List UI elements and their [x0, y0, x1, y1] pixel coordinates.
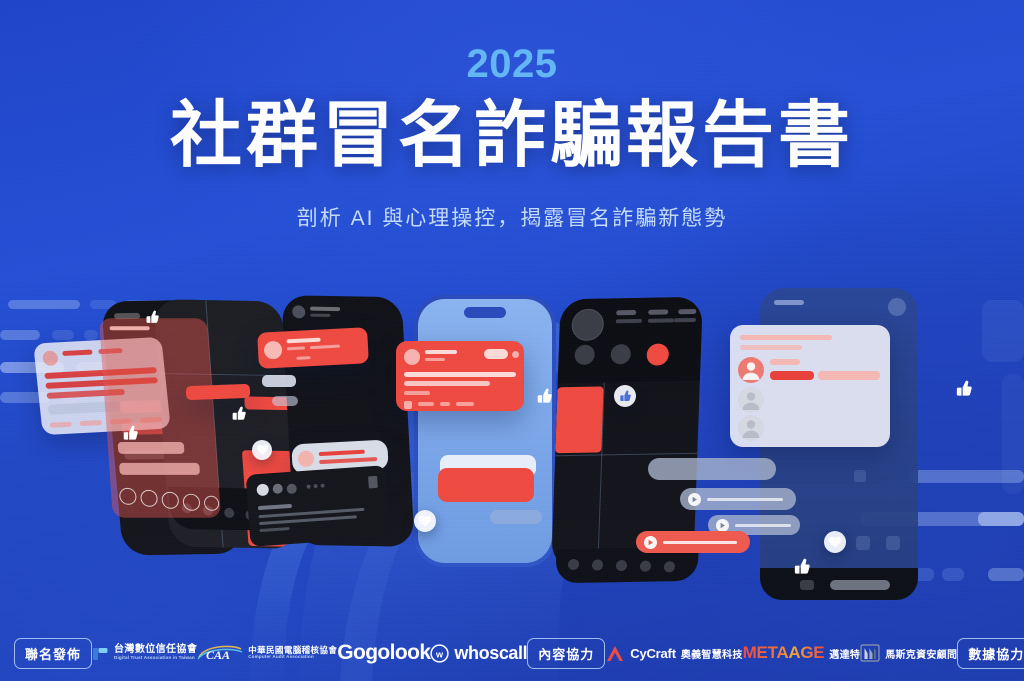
thumbs-up-icon	[145, 310, 159, 329]
phone-chip	[306, 484, 310, 488]
text-line	[62, 350, 93, 357]
whoscall-mark-icon: w	[430, 644, 449, 663]
logo-text-stack: 台灣數位信任協會 Digital Trust Association in Ta…	[114, 645, 197, 660]
avatar	[292, 305, 306, 318]
reaction-icon	[119, 488, 137, 505]
logo-caa: CAA 中華民國電腦稽核協會 Computer Audit Associatio…	[197, 643, 337, 663]
waveform	[663, 541, 737, 544]
phone-chip	[678, 309, 696, 314]
text-line	[287, 346, 305, 350]
partner-logo-footer: 聯名發佈 台灣數位信任協會 Digital Trust Association …	[0, 625, 1024, 681]
scam-post-overlay	[99, 318, 221, 518]
reaction-icon	[161, 492, 179, 509]
logo-mastech: 馬斯克資安顧問	[860, 643, 957, 663]
phone-mockup-5	[551, 297, 703, 569]
more-icon[interactable]	[512, 351, 519, 358]
caller-avatar	[571, 309, 604, 342]
phone-chip	[616, 310, 636, 315]
phone-mockup-4	[414, 295, 556, 567]
text-line	[310, 345, 340, 350]
thumbs-up-icon	[122, 425, 138, 446]
text-line	[296, 356, 310, 360]
thumbs-up-icon	[536, 388, 552, 409]
speaker-dot	[224, 508, 235, 518]
contact-list-card	[730, 325, 890, 447]
story-dot	[272, 483, 283, 494]
deco-bar	[1002, 374, 1024, 494]
avatar	[888, 298, 906, 316]
text-line	[287, 338, 321, 344]
logo-en-name: Computer Audit Association	[248, 655, 337, 660]
text-line	[80, 420, 103, 426]
deco-bar	[988, 568, 1024, 581]
text-line	[319, 450, 365, 456]
voice-message-pill[interactable]	[680, 488, 796, 510]
text-line	[404, 381, 490, 386]
mastech-mark-icon	[860, 643, 880, 663]
logo-gogolook: Gogolook	[337, 641, 430, 665]
logo-wordmark: whoscall	[454, 643, 527, 664]
logo-whoscall: w whoscall	[430, 643, 527, 664]
deco-bar	[8, 300, 80, 309]
heart-icon	[257, 445, 268, 455]
logo-wordmark: CyCraft	[630, 646, 676, 661]
page-subtitle: 剖析 AI 與心理操控，揭露冒名詐騙新態勢	[0, 202, 1024, 232]
badge-joint-publication: 聯名發佈	[14, 638, 92, 669]
badge-content-partner: 內容協力	[527, 638, 605, 669]
text-line	[319, 457, 377, 464]
report-cover-poster: 2025 社群冒名詐騙報告書 剖析 AI 與心理操控，揭露冒名詐騙新態勢 聯名發…	[0, 0, 1024, 681]
play-icon[interactable]	[644, 536, 657, 549]
reaction-icon	[204, 496, 220, 511]
story-dot	[256, 483, 269, 496]
logo-digital-trust-association: 台灣數位信任協會 Digital Trust Association in Ta…	[92, 645, 197, 662]
thumbs-up-icon	[793, 558, 810, 580]
thumbs-up-icon	[231, 406, 246, 426]
avatar	[264, 341, 283, 360]
chat-bubble-incoming	[490, 510, 542, 524]
avatar	[298, 450, 315, 467]
heart-reaction-bubble[interactable]	[414, 510, 436, 532]
deco-bar	[52, 330, 74, 340]
speaker-dot	[568, 559, 579, 570]
badge-data-partner: 數據協力	[957, 638, 1024, 669]
reaction-icon	[182, 494, 200, 511]
voice-message-bar	[648, 458, 776, 480]
reaction-icon	[140, 490, 158, 507]
deco-bar	[978, 512, 1024, 526]
report-year: 2025	[0, 44, 1024, 84]
thumbs-up-icon	[619, 390, 631, 402]
speaker-dot	[616, 560, 627, 571]
phone-chip	[674, 318, 696, 322]
phone-chip	[886, 536, 900, 550]
fake-profile-post-card	[396, 341, 524, 411]
thumbs-up-icon	[955, 380, 972, 402]
speaker-dot	[640, 561, 651, 572]
heart-icon	[829, 537, 841, 548]
person-icon	[738, 415, 764, 441]
text-line	[404, 391, 430, 395]
phone-bottom-bar	[760, 568, 918, 600]
caa-swoosh-icon: CAA	[197, 643, 243, 663]
phone-chip	[310, 307, 340, 312]
phone-chip	[616, 319, 642, 323]
video-button[interactable]	[610, 344, 631, 364]
avatar	[404, 349, 420, 365]
person-icon	[738, 357, 764, 383]
home-indicator	[830, 580, 890, 590]
text-line	[740, 335, 832, 340]
text-line	[425, 358, 445, 361]
text-line	[456, 402, 474, 406]
end-call-button[interactable]	[646, 343, 669, 365]
logo-cycraft: CyCraft 奧義智慧科技	[605, 644, 742, 663]
avatar	[42, 350, 59, 366]
logo-metaage: METAAGE 邁達特	[743, 643, 861, 663]
phone-chip	[648, 309, 668, 314]
phone-chip-red	[555, 386, 603, 453]
svg-text:CAA: CAA	[206, 648, 230, 662]
text-line	[740, 345, 802, 350]
logo-cn-name: 奧義智慧科技	[681, 646, 743, 661]
waveform	[707, 498, 783, 501]
chat-bubble-outgoing	[438, 468, 534, 502]
heart-reaction-bubble[interactable]	[252, 440, 272, 460]
phone-chip	[856, 536, 870, 550]
thumbs-up-reaction-bubble[interactable]	[614, 385, 636, 407]
heart-icon[interactable]	[404, 401, 412, 409]
play-icon[interactable]	[688, 493, 701, 506]
speaker-dot	[664, 561, 675, 572]
heart-reaction-bubble[interactable]	[824, 531, 846, 553]
grid-line	[555, 453, 697, 456]
logo-en-name: Digital Trust Association in Taiwan	[114, 656, 197, 661]
deco-bar	[0, 330, 40, 340]
text-line	[818, 371, 880, 380]
text-line	[258, 504, 292, 510]
text-line	[109, 326, 149, 330]
svg-text:w: w	[435, 649, 444, 659]
video-call-panel	[558, 297, 703, 383]
speaker-dot	[592, 559, 603, 570]
logo-cn-name: 邁達特	[829, 646, 860, 661]
play-icon[interactable]	[716, 519, 729, 532]
dta-mark-icon	[92, 645, 109, 662]
page-title: 社群冒名詐騙報告書	[0, 98, 1024, 176]
logo-cn-name: 馬斯克資安顧問	[885, 646, 957, 661]
notch	[464, 307, 506, 318]
bookmark-icon	[368, 476, 378, 489]
deco-bar	[982, 300, 1024, 362]
cycraft-mark-icon	[605, 644, 625, 663]
phone-chip	[310, 314, 330, 317]
text-line	[770, 371, 814, 380]
follow-button[interactable]	[484, 349, 508, 359]
phone-chip	[854, 470, 866, 482]
phone-chip	[320, 483, 324, 487]
post-footer-card	[246, 465, 391, 547]
story-dot	[286, 483, 297, 494]
reply-bar	[262, 375, 296, 387]
phone-chip	[774, 300, 804, 305]
deco-bar	[942, 568, 964, 581]
person-icon	[738, 387, 764, 413]
text-line	[119, 463, 200, 475]
phone-chip	[313, 484, 317, 488]
logo-wordmark: METAAGE	[743, 643, 825, 663]
fake-notification-card	[257, 327, 369, 369]
home-indicator	[800, 580, 814, 590]
text-line	[259, 527, 289, 532]
heart-icon	[419, 516, 431, 527]
mute-button[interactable]	[574, 345, 595, 365]
headline-block: 2025 社群冒名詐騙報告書 剖析 AI 與心理操控，揭露冒名詐騙新態勢	[0, 0, 1024, 232]
text-line	[404, 372, 516, 377]
phone-chip	[648, 318, 674, 322]
text-line	[418, 402, 434, 406]
logo-wordmark: Gogolook	[337, 641, 430, 665]
text-line	[50, 422, 73, 428]
text-line	[440, 402, 450, 406]
reply-bar	[272, 396, 298, 406]
scam-message-bar	[186, 384, 250, 400]
text-line	[770, 359, 800, 365]
logo-text-stack: 中華民國電腦稽核協會 Computer Audit Association	[248, 646, 337, 660]
scam-voice-message-pill[interactable]	[636, 531, 750, 553]
deco-bar	[84, 330, 98, 340]
waveform	[735, 524, 791, 527]
text-line	[425, 350, 457, 354]
